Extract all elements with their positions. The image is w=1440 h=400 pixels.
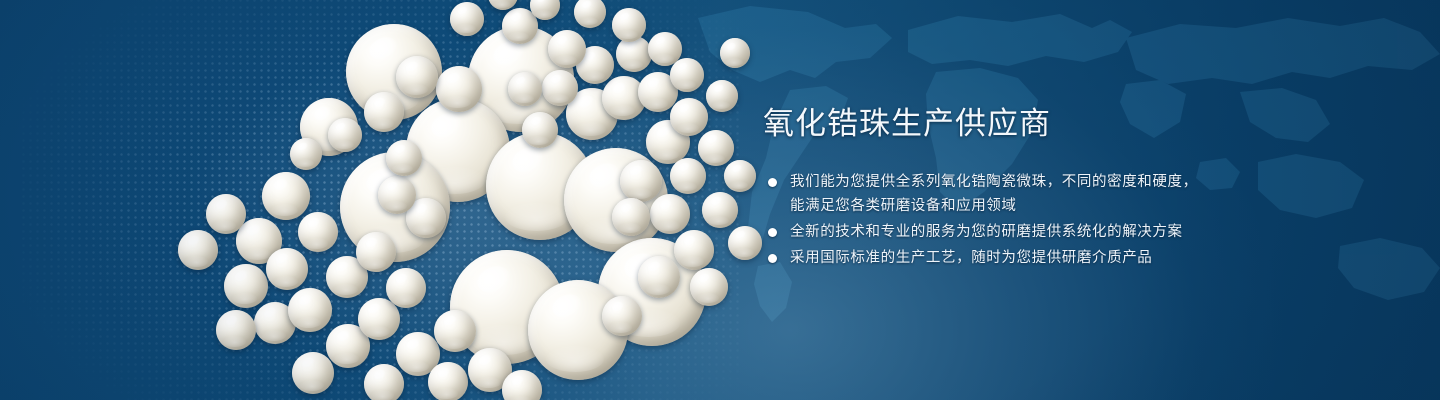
- banner-copy: 氧化锆珠生产供应商 我们能为您提供全系列氧化锆陶瓷微珠，不同的密度和硬度，能满足…: [763, 104, 1403, 272]
- banner-headline: 氧化锆珠生产供应商: [763, 104, 1403, 144]
- banner-bullet-item: 我们能为您提供全系列氧化锆陶瓷微珠，不同的密度和硬度，能满足您各类研磨设备和应用…: [763, 170, 1403, 218]
- banner-bullet-item: 采用国际标准的生产工艺，随时为您提供研磨介质产品: [763, 246, 1403, 270]
- bullet-dot-icon: [768, 178, 777, 187]
- bullet-text-line: 我们能为您提供全系列氧化锆陶瓷微珠，不同的密度和硬度，: [790, 170, 1403, 194]
- bullet-text-line: 全新的技术和专业的服务为您的研磨提供系统化的解决方案: [790, 220, 1403, 244]
- banner-bullet-list: 我们能为您提供全系列氧化锆陶瓷微珠，不同的密度和硬度，能满足您各类研磨设备和应用…: [763, 170, 1403, 270]
- banner-bullet-item: 全新的技术和专业的服务为您的研磨提供系统化的解决方案: [763, 220, 1403, 244]
- bullet-dot-icon: [768, 254, 777, 263]
- bullet-text-line: 采用国际标准的生产工艺，随时为您提供研磨介质产品: [790, 246, 1403, 270]
- hero-banner: 氧化锆珠生产供应商 我们能为您提供全系列氧化锆陶瓷微珠，不同的密度和硬度，能满足…: [0, 0, 1440, 400]
- bullet-text-line: 能满足您各类研磨设备和应用领域: [790, 194, 1403, 218]
- bullet-dot-icon: [768, 228, 777, 237]
